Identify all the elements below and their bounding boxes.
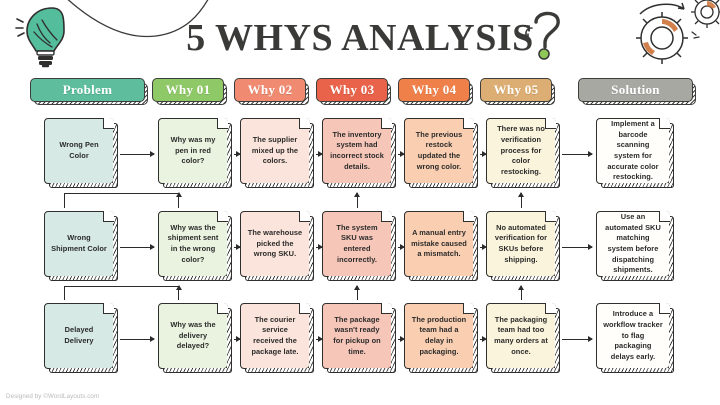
card-shadow-right — [113, 216, 118, 281]
card-why03-row-2[interactable]: The system SKU was entered incorrectly. — [322, 211, 392, 277]
card-text: The inventory system had incorrect stock… — [329, 130, 385, 173]
card-text: The production team had a delay in packa… — [411, 315, 467, 358]
arrow-why03-to-why04-row-3 — [398, 339, 404, 340]
connector-vertical-why03-gap1 — [357, 193, 358, 208]
connector-elbow-problem-gap2 — [64, 286, 179, 300]
card-shadow-bottom — [601, 276, 674, 281]
card-text: There was no verification process for co… — [493, 124, 549, 178]
card-shadow-right — [113, 123, 118, 188]
card-text: Wrong Pen Color — [51, 140, 107, 161]
card-shadow-bottom — [163, 276, 232, 281]
connector-segment-left — [64, 286, 65, 300]
card-text: The system SKU was entered incorrectly. — [329, 223, 385, 266]
connector-segment-left — [64, 193, 65, 208]
card-why04-row-2[interactable]: A manual entry mistake caused a mismatch… — [404, 211, 474, 277]
arrow-why04-to-why05-row-1 — [480, 154, 486, 155]
card-text: Why was the delivery delayed? — [165, 320, 221, 352]
folded-corner-icon — [217, 303, 228, 314]
card-shadow-bottom — [49, 368, 118, 373]
card-shadow-bottom — [409, 183, 478, 188]
card-why05-row-2[interactable]: No automated verification for SKUs befor… — [486, 211, 556, 277]
card-shadow-right — [669, 308, 674, 373]
arrow-why01-to-why02-row-3 — [234, 339, 240, 340]
card-shadow-bottom — [49, 276, 118, 281]
card-shadow-bottom — [491, 183, 560, 188]
card-shadow-right — [227, 123, 232, 188]
folded-corner-icon — [103, 303, 114, 314]
card-shadow-bottom — [491, 276, 560, 281]
folded-corner-icon — [217, 211, 228, 222]
card-shadow-bottom — [245, 276, 314, 281]
connector-arrowhead — [176, 285, 182, 290]
card-problem-row-2[interactable]: Wrong Shipment Color — [44, 211, 114, 277]
folded-corner-icon — [381, 118, 392, 129]
card-text: Why was the shipment sent in the wrong c… — [165, 223, 221, 266]
arrow-why03-to-why04-row-2 — [398, 247, 404, 248]
card-shadow-right — [669, 123, 674, 188]
card-why05-row-3[interactable]: The packaging team had too many orders a… — [486, 303, 556, 369]
arrow-why01-to-why02-row-1 — [234, 154, 240, 155]
folded-corner-icon — [381, 303, 392, 314]
card-shadow-right — [391, 216, 396, 281]
connector-elbow-problem-gap1 — [64, 193, 179, 208]
card-text: The packaging team had too many orders a… — [493, 315, 549, 358]
card-shadow-right — [113, 308, 118, 373]
card-text: Delayed Delivery — [51, 325, 107, 346]
card-shadow-right — [555, 308, 560, 373]
card-shadow-right — [391, 308, 396, 373]
arrow-why04-to-why05-row-3 — [480, 339, 486, 340]
card-shadow-bottom — [327, 276, 396, 281]
card-why02-row-3[interactable]: The courier service received the package… — [240, 303, 310, 369]
card-why03-row-3[interactable]: The package wasn't ready for pickup on t… — [322, 303, 392, 369]
folded-corner-icon — [103, 118, 114, 129]
footer-credit: Designed by ©WordLayouts.com — [6, 393, 99, 400]
card-shadow-right — [473, 308, 478, 373]
card-shadow-right — [309, 216, 314, 281]
folded-corner-icon — [103, 211, 114, 222]
card-text: The package wasn't ready for pickup on t… — [329, 315, 385, 358]
folded-corner-icon — [545, 211, 556, 222]
card-shadow-bottom — [327, 368, 396, 373]
arrow-why05-to-solution-row-3 — [562, 339, 592, 340]
arrow-why02-to-why03-row-1 — [316, 154, 322, 155]
folded-corner-icon — [217, 118, 228, 129]
arrow-why02-to-why03-row-3 — [316, 339, 322, 340]
card-shadow-bottom — [245, 183, 314, 188]
card-shadow-right — [309, 123, 314, 188]
arrow-problem-to-why01-row-2 — [120, 247, 154, 248]
card-why01-row-2[interactable]: Why was the shipment sent in the wrong c… — [158, 211, 228, 277]
card-problem-row-1[interactable]: Wrong Pen Color — [44, 118, 114, 184]
card-grid: Wrong Pen ColorWhy was my pen in red col… — [0, 0, 720, 405]
card-text: A manual entry mistake caused a mismatch… — [411, 228, 467, 260]
card-shadow-right — [473, 216, 478, 281]
card-text: Use an automated SKU matching system bef… — [603, 212, 663, 276]
arrow-problem-to-why01-row-1 — [120, 154, 154, 155]
card-why04-row-3[interactable]: The production team had a delay in packa… — [404, 303, 474, 369]
card-why02-row-2[interactable]: The warehouse picked the wrong SKU. — [240, 211, 310, 277]
card-text: The supplier mixed up the colors. — [247, 135, 303, 167]
folded-corner-icon — [545, 303, 556, 314]
card-text: Implement a barcode scanning system for … — [603, 119, 663, 183]
card-why03-row-1[interactable]: The inventory system had incorrect stock… — [322, 118, 392, 184]
card-why01-row-3[interactable]: Why was the delivery delayed? — [158, 303, 228, 369]
folded-corner-icon — [299, 118, 310, 129]
card-shadow-bottom — [245, 368, 314, 373]
card-shadow-bottom — [491, 368, 560, 373]
card-problem-row-3[interactable]: Delayed Delivery — [44, 303, 114, 369]
card-text: The warehouse picked the wrong SKU. — [247, 228, 303, 260]
card-text: Wrong Shipment Color — [51, 233, 107, 254]
card-why02-row-1[interactable]: The supplier mixed up the colors. — [240, 118, 310, 184]
connector-vertical-why05-gap2 — [521, 286, 522, 300]
folded-corner-icon — [381, 211, 392, 222]
card-text: No automated verification for SKUs befor… — [493, 223, 549, 266]
card-shadow-bottom — [409, 276, 478, 281]
diagram-canvas: 5 WHYS ANALYSIS Problem Why 01 Why 02 Wh… — [0, 0, 720, 405]
card-shadow-right — [309, 308, 314, 373]
card-text: Why was my pen in red color? — [165, 135, 221, 167]
connector-segment-horizontal — [64, 286, 179, 287]
card-shadow-bottom — [163, 368, 232, 373]
card-text: Introduce a workflow tracker to flag pac… — [603, 309, 663, 363]
arrow-why05-to-solution-row-1 — [562, 154, 592, 155]
arrow-why04-to-why05-row-2 — [480, 247, 486, 248]
card-text: The previous restock updated the wrong c… — [411, 130, 467, 173]
arrow-why02-to-why03-row-2 — [316, 247, 322, 248]
card-shadow-bottom — [409, 368, 478, 373]
folded-corner-icon — [299, 303, 310, 314]
connector-arrowhead — [176, 192, 182, 197]
folded-corner-icon — [299, 211, 310, 222]
connector-segment-horizontal — [64, 193, 179, 194]
folded-corner-icon — [463, 118, 474, 129]
card-solution-row-3[interactable]: Introduce a workflow tracker to flag pac… — [596, 303, 670, 369]
card-shadow-right — [669, 216, 674, 281]
card-shadow-bottom — [601, 183, 674, 188]
arrow-problem-to-why01-row-3 — [120, 339, 154, 340]
card-shadow-right — [473, 123, 478, 188]
arrow-why05-to-solution-row-2 — [562, 247, 592, 248]
card-shadow-bottom — [49, 183, 118, 188]
card-shadow-right — [227, 216, 232, 281]
connector-vertical-why05-gap1 — [521, 193, 522, 208]
folded-corner-icon — [463, 211, 474, 222]
folded-corner-icon — [463, 303, 474, 314]
arrow-why03-to-why04-row-1 — [398, 154, 404, 155]
card-shadow-bottom — [601, 368, 674, 373]
card-shadow-right — [391, 123, 396, 188]
card-why04-row-1[interactable]: The previous restock updated the wrong c… — [404, 118, 474, 184]
card-solution-row-2[interactable]: Use an automated SKU matching system bef… — [596, 211, 670, 277]
card-why05-row-1[interactable]: There was no verification process for co… — [486, 118, 556, 184]
arrow-why01-to-why02-row-2 — [234, 247, 240, 248]
card-shadow-right — [227, 308, 232, 373]
card-shadow-bottom — [163, 183, 232, 188]
card-shadow-bottom — [327, 183, 396, 188]
card-shadow-right — [555, 216, 560, 281]
card-why01-row-1[interactable]: Why was my pen in red color? — [158, 118, 228, 184]
connector-vertical-why03-gap2 — [357, 286, 358, 300]
card-shadow-right — [555, 123, 560, 188]
card-solution-row-1[interactable]: Implement a barcode scanning system for … — [596, 118, 670, 184]
card-text: The courier service received the package… — [247, 315, 303, 358]
